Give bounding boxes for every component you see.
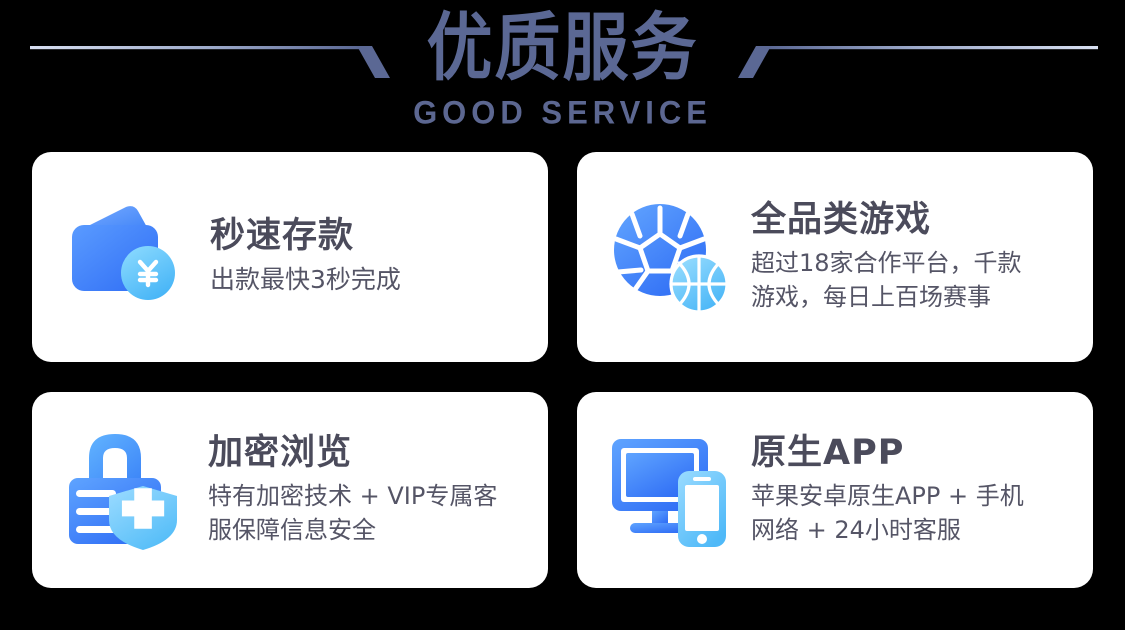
feature-card-native-app[interactable]: 原生APP 苹果安卓原生APP + 手机 网络 + 24小时客服 (577, 392, 1093, 588)
wallet-icon (60, 193, 188, 321)
header: 优质服务 GOOD SERVICE (0, 0, 1125, 148)
lock-shield-icon (60, 426, 188, 554)
card-title: 秒速存款 (210, 216, 401, 257)
card-subtitle-line: 超过18家合作平台，千款 (751, 246, 1022, 280)
card-subtitle-line: 苹果安卓原生APP + 手机 (751, 479, 1024, 513)
card-subtitle-line: 出款最快3秒完成 (210, 262, 401, 298)
card-subtitle-line: 网络 + 24小时客服 (751, 513, 1024, 547)
card-text-block: 秒速存款 出款最快3秒完成 (210, 216, 401, 298)
monitor-phone-icon (605, 426, 733, 554)
feature-card-games[interactable]: 全品类游戏 超过18家合作平台，千款 游戏，每日上百场赛事 (577, 152, 1093, 362)
card-text-block: 全品类游戏 超过18家合作平台，千款 游戏，每日上百场赛事 (751, 200, 1022, 314)
card-title: 原生APP (751, 433, 1024, 474)
card-subtitle-line: 服保障信息安全 (208, 513, 497, 547)
title-block: 优质服务 GOOD SERVICE (0, 8, 1125, 131)
card-title: 全品类游戏 (751, 200, 1022, 241)
feature-card-deposit[interactable]: 秒速存款 出款最快3秒完成 (32, 152, 548, 362)
card-subtitle-line: 特有加密技术 + VIP专属客 (208, 479, 497, 513)
card-title: 加密浏览 (208, 433, 497, 474)
soccer-basketball-icon (605, 193, 733, 321)
card-text-block: 原生APP 苹果安卓原生APP + 手机 网络 + 24小时客服 (751, 433, 1024, 547)
card-subtitle-line: 游戏，每日上百场赛事 (751, 280, 1022, 314)
page-title-cn: 优质服务 (0, 8, 1125, 88)
card-text-block: 加密浏览 特有加密技术 + VIP专属客 服保障信息安全 (208, 433, 497, 547)
feature-card-grid: 秒速存款 出款最快3秒完成 (32, 152, 1093, 588)
page-title-en: GOOD SERVICE (0, 94, 1125, 132)
feature-card-encryption[interactable]: 加密浏览 特有加密技术 + VIP专属客 服保障信息安全 (32, 392, 548, 588)
promo-banner: 优质服务 GOOD SERVICE (0, 0, 1125, 630)
